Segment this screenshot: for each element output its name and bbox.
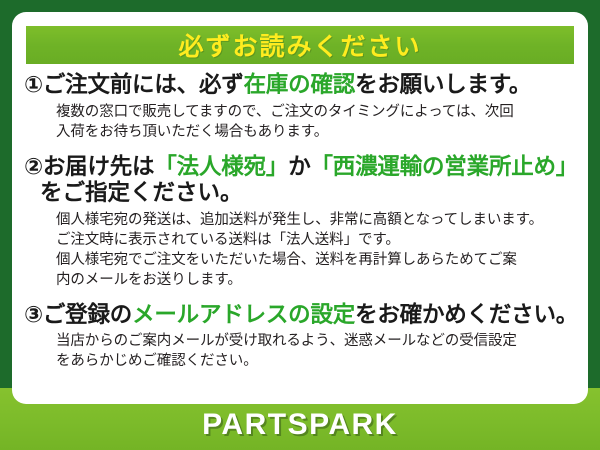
item-2-body-line-3: 個人様宅宛でご注文をいただいた場合、送料を再計算しあらためてご案	[24, 250, 578, 270]
list-item-1: ①ご注文前には、必ず在庫の確認をお願いします。 複数の窓口で販売してますので、ご…	[12, 72, 588, 142]
item-3-number: ③	[24, 302, 43, 327]
item-1-heading: ①ご注文前には、必ず在庫の確認をお願いします。	[24, 72, 578, 99]
item-2-heading-line-2: をご指定ください。	[24, 180, 578, 207]
item-1-head-post: をお願いします。	[355, 72, 531, 97]
content-card: 必ずお読みください ①ご注文前には、必ず在庫の確認をお願いします。 複数の窓口で…	[12, 12, 588, 404]
item-2-head-mid: か	[288, 154, 310, 179]
item-3-heading: ③ご登録のメールアドレスの設定をお確かめください。	[24, 302, 578, 329]
item-2-head-pre: お届け先は	[43, 154, 155, 179]
item-3-body-line-2: をあらかじめご確認ください。	[24, 351, 578, 371]
item-3-body-line-1: 当店からのご案内メールが受け取れるよう、迷惑メールなどの受信設定	[24, 328, 578, 351]
item-2-body-line-1: 個人様宅宛の発送は、追加送料が発生し、非常に高額となってしまいます。	[24, 207, 578, 230]
item-1-body-line-1: 複数の窓口で販売してますので、ご注文のタイミングによっては、次回	[24, 99, 578, 122]
item-1-head-pre: ご注文前には、必ず	[43, 72, 244, 97]
item-2-heading: ②お届け先は「法人様宛」か「西濃運輸の営業所止め」	[24, 154, 578, 181]
list-item-2: ②お届け先は「法人様宛」か「西濃運輸の営業所止め」 をご指定ください。 個人様宅…	[12, 154, 588, 290]
item-3-highlight: メールアドレスの設定	[132, 302, 355, 327]
item-1-body-line-2: 入荷をお待ち頂いただく場合もあります。	[24, 122, 578, 142]
item-2-body-line-2: ご注文時に表示されている送料は「法人送料」です。	[24, 230, 578, 250]
item-2-number: ②	[24, 154, 43, 179]
item-1-highlight: 在庫の確認	[244, 72, 356, 97]
item-2-body-line-4: 内のメールをお送りします。	[24, 270, 578, 290]
item-2-highlight-2: 「西濃運輸の営業所止め」	[311, 154, 579, 179]
notice-banner: 必ずお読みください ①ご注文前には、必ず在庫の確認をお願いします。 複数の窓口で…	[0, 0, 600, 450]
list-item-3: ③ご登録のメールアドレスの設定をお確かめください。 当店からのご案内メールが受け…	[12, 302, 588, 372]
notice-list: ①ご注文前には、必ず在庫の確認をお願いします。 複数の窓口で販売してますので、ご…	[12, 70, 588, 371]
header-bar: 必ずお読みください	[26, 26, 574, 64]
item-3-head-pre: ご登録の	[43, 302, 132, 327]
item-1-number: ①	[24, 72, 43, 97]
item-2-highlight-1: 「法人様宛」	[154, 154, 288, 179]
item-3-head-post: をお確かめください。	[355, 302, 578, 327]
brand-name: PARTSPARK	[0, 408, 600, 442]
page-title: 必ずお読みください	[178, 27, 421, 63]
